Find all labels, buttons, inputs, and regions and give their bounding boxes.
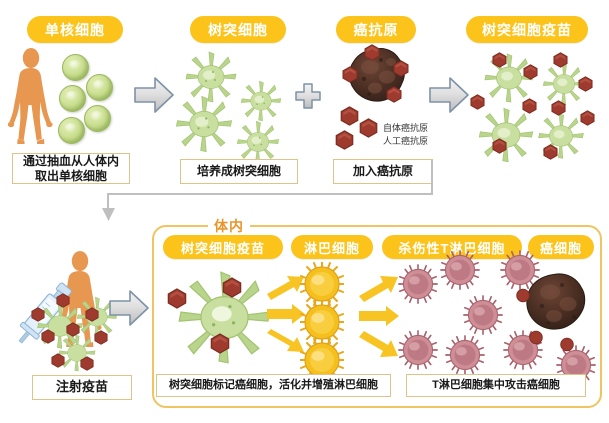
antigen-hexagon — [386, 86, 402, 103]
killer-t-cell — [398, 264, 438, 304]
pill-dc-vaccine-invivo: 树突细胞疫苗 — [163, 235, 283, 259]
antigen-hexagon — [551, 100, 566, 116]
dendritic-cell — [172, 92, 236, 156]
killer-t-cell — [463, 295, 503, 335]
antigen-hexagon — [492, 138, 507, 154]
pill-cancer-antigen: 癌抗原 — [336, 16, 416, 43]
antigen-hexagon — [56, 293, 70, 308]
annotation-artificial-antigen: 人工癌抗原 — [383, 135, 428, 147]
antigen-hexagon — [85, 307, 99, 322]
antigen-hexagon — [222, 277, 242, 298]
arrow-right-icon — [133, 75, 175, 115]
killer-t-cell — [445, 335, 485, 375]
arrow-right-icon — [108, 288, 150, 328]
antigen-hexagon — [31, 307, 45, 322]
antigen-hexagon — [529, 330, 543, 345]
antigen-hexagon — [342, 66, 358, 83]
flow-connector-horizontal — [108, 193, 433, 195]
plus-icon — [294, 82, 322, 110]
killer-t-cell — [440, 250, 480, 290]
antigen-hexagon — [66, 322, 80, 337]
antigen-hexagon — [335, 130, 354, 150]
antigen-hexagon — [578, 76, 593, 92]
pill-dendritic-cell-vaccine: 树突细胞疫苗 — [466, 16, 588, 43]
antigen-hexagon — [580, 110, 595, 126]
antigen-hexagon — [359, 118, 378, 138]
antigen-hexagon — [94, 330, 108, 345]
antigen-hexagon — [543, 144, 558, 160]
caption-injection-step: 注射疫苗 — [32, 375, 132, 400]
antigen-hexagon — [210, 333, 230, 354]
human-figure-icon — [8, 47, 54, 145]
antigen-hexagon — [516, 288, 530, 303]
flow-connector-vertical-right — [431, 160, 433, 195]
antigen-hexagon — [364, 44, 380, 61]
monocyte-cell — [86, 74, 113, 101]
antigen-hexagon — [470, 94, 485, 110]
pill-lymphocyte: 淋巴细胞 — [291, 235, 373, 259]
antigen-hexagon — [340, 106, 359, 126]
antigen-hexagon — [553, 52, 568, 68]
monocyte-cell — [62, 54, 89, 81]
arrow-yellow-down-icon — [358, 329, 400, 361]
monocyte-cell — [59, 85, 86, 112]
antigen-hexagon — [522, 98, 537, 114]
antigen-hexagon — [523, 64, 538, 80]
caption-monocyte-step: 通过抽血从人体内 取出单核细胞 — [12, 153, 130, 184]
pill-monocyte: 单核细胞 — [27, 16, 123, 43]
caption-antigen-step: 加入癌抗原 — [333, 159, 433, 184]
caption-dc-activates-lymphocytes: 树突细胞标记癌细胞，活化并增殖淋巴细胞 — [156, 374, 391, 397]
diagram-canvas: 单核细胞 通过抽血从人体内 取出单核细胞 — [0, 0, 609, 423]
caption-t-cells-attack-cancer: T淋巴细胞集中攻击癌细胞 — [406, 374, 586, 397]
cancer-cell-target — [524, 272, 588, 334]
antigen-hexagon — [80, 356, 94, 371]
antigen-hexagon — [393, 60, 409, 77]
killer-t-cell — [398, 330, 438, 370]
arrow-right-icon — [428, 75, 470, 115]
invivo-title: 体内 — [208, 216, 250, 236]
monocyte-cell — [84, 105, 111, 132]
antigen-hexagon — [560, 337, 574, 352]
flow-connector-arrowhead-icon — [101, 208, 116, 222]
arrow-yellow-right-icon — [358, 305, 400, 327]
annotation-autologous-antigen: 自体癌抗原 — [383, 122, 428, 134]
antigen-hexagon — [41, 329, 55, 344]
antigen-hexagon — [492, 52, 507, 68]
antigen-hexagon — [51, 353, 65, 368]
caption-dendritic-step: 培养成树突细胞 — [180, 159, 298, 184]
antigen-hexagon — [167, 288, 187, 309]
arrow-yellow-up-icon — [358, 272, 400, 304]
pill-dendritic-cell: 树突细胞 — [190, 16, 286, 43]
monocyte-cell — [58, 117, 85, 144]
